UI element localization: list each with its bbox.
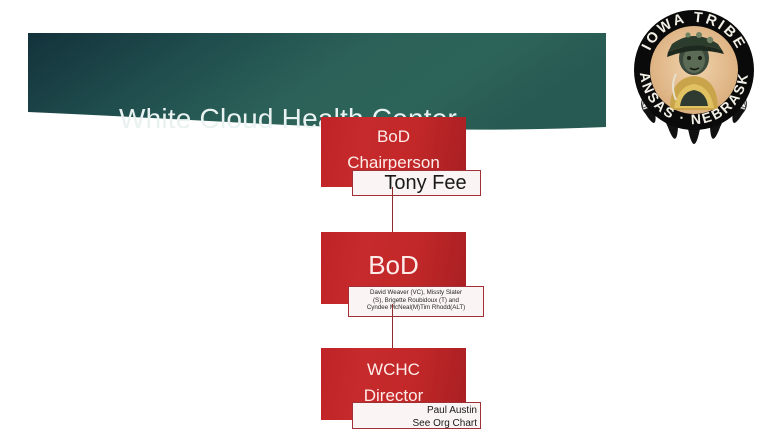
name-plate-wchc-director[interactable]: Paul Austin See Org Chart [352,402,481,429]
name-plate-bod-chairperson[interactable]: Tony Fee [352,170,481,196]
org-node-title: BoD Chairperson [321,124,466,176]
name-plate-line: See Org Chart [353,417,477,429]
name-plate-line: Cyndee McNeal(M)Tim Rhodd(ALT) [349,304,483,312]
header-banner: White Cloud Health Center [28,33,606,133]
page-title: White Cloud Health Center [28,105,548,133]
name-plate-line: (S), Brigette Roubidoux (T) and [349,297,483,305]
connector-bod-to-director [392,304,393,348]
connector-chairperson-to-bod [392,187,393,232]
name-plate-line: David Weaver (VC), Missty Slater [349,289,483,297]
name-plate-line: Paul Austin [353,404,477,417]
iowa-tribe-seal-logo: IOWA TRIBE KANSAS · NEBRASKA [626,2,762,152]
name-plate-line: Tony Fee [384,172,466,194]
slide-canvas: White Cloud Health Center [0,0,768,429]
seal-graphic: IOWA TRIBE KANSAS · NEBRASKA [626,2,762,152]
name-plate-bod-members[interactable]: David Weaver (VC), Missty Slater (S), Br… [348,286,484,317]
